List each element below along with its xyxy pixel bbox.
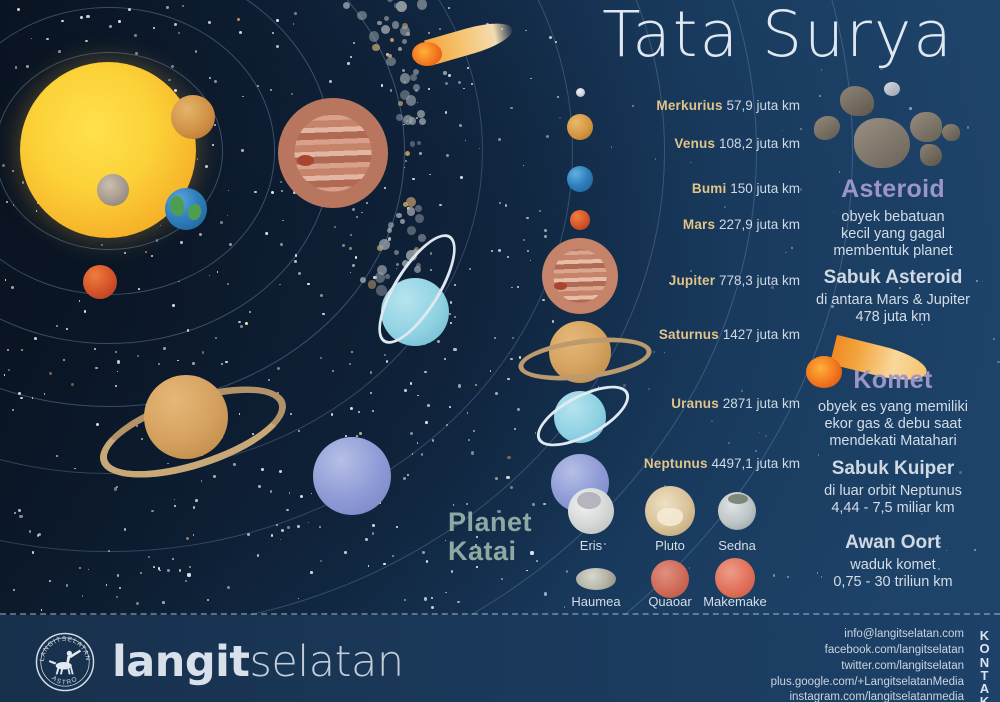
dwarf-planet-label: Sedna <box>677 538 797 553</box>
kontak-letter: O <box>976 642 994 655</box>
contact-line[interactable]: instagram.com/langitselatanmedia <box>771 690 964 702</box>
logo-arc-bottom: ASTRO <box>50 675 79 687</box>
contact-line[interactable]: info@langitselatan.com <box>771 627 964 643</box>
contact-line[interactable]: plus.google.com/+LangitselatanMedia <box>771 675 964 691</box>
eris-surface-marking <box>577 492 601 509</box>
dwarf-planet-icon-makemake <box>715 558 755 598</box>
contact-list: info@langitselatan.comfacebook.com/langi… <box>771 627 964 702</box>
brand-thin: selatan <box>249 637 403 687</box>
dwarf-planet-icon-haumea <box>576 568 616 590</box>
pluto-heart-marking <box>657 508 683 526</box>
kontak-letter: A <box>976 682 994 695</box>
kontak-letter: N <box>976 656 994 669</box>
kontak-letter: K <box>976 629 994 642</box>
dwarf-planet-label: Makemake <box>675 594 795 609</box>
contact-line[interactable]: facebook.com/langitselatan <box>771 643 964 659</box>
kontak-letter: T <box>976 669 994 682</box>
logo-centaur-figure <box>49 650 81 675</box>
footer: LANGITSELATAN ASTRO langitselatan info@l… <box>0 615 1000 702</box>
langitselatan-logo-icon: LANGITSELATAN ASTRO <box>34 631 96 693</box>
dwarf-planets-grid: ErisPlutoSednaHaumeaQuaoarMakemake <box>0 0 1000 702</box>
brand-bold: langit <box>112 637 249 687</box>
brand-wordmark: langitselatan <box>112 637 404 687</box>
svg-text:ASTRO: ASTRO <box>50 675 79 687</box>
kontak-vertical-label: KONTAK <box>976 629 994 702</box>
kontak-letter: K <box>976 695 994 702</box>
dwarf-planet-icon-quaoar <box>651 560 689 598</box>
contact-line[interactable]: twitter.com/langitselatan <box>771 659 964 675</box>
sedna-surface-marking <box>728 494 748 504</box>
infographic-canvas: Tata Surya Merkurius 57,9 juta kmVenus 1… <box>0 0 1000 702</box>
